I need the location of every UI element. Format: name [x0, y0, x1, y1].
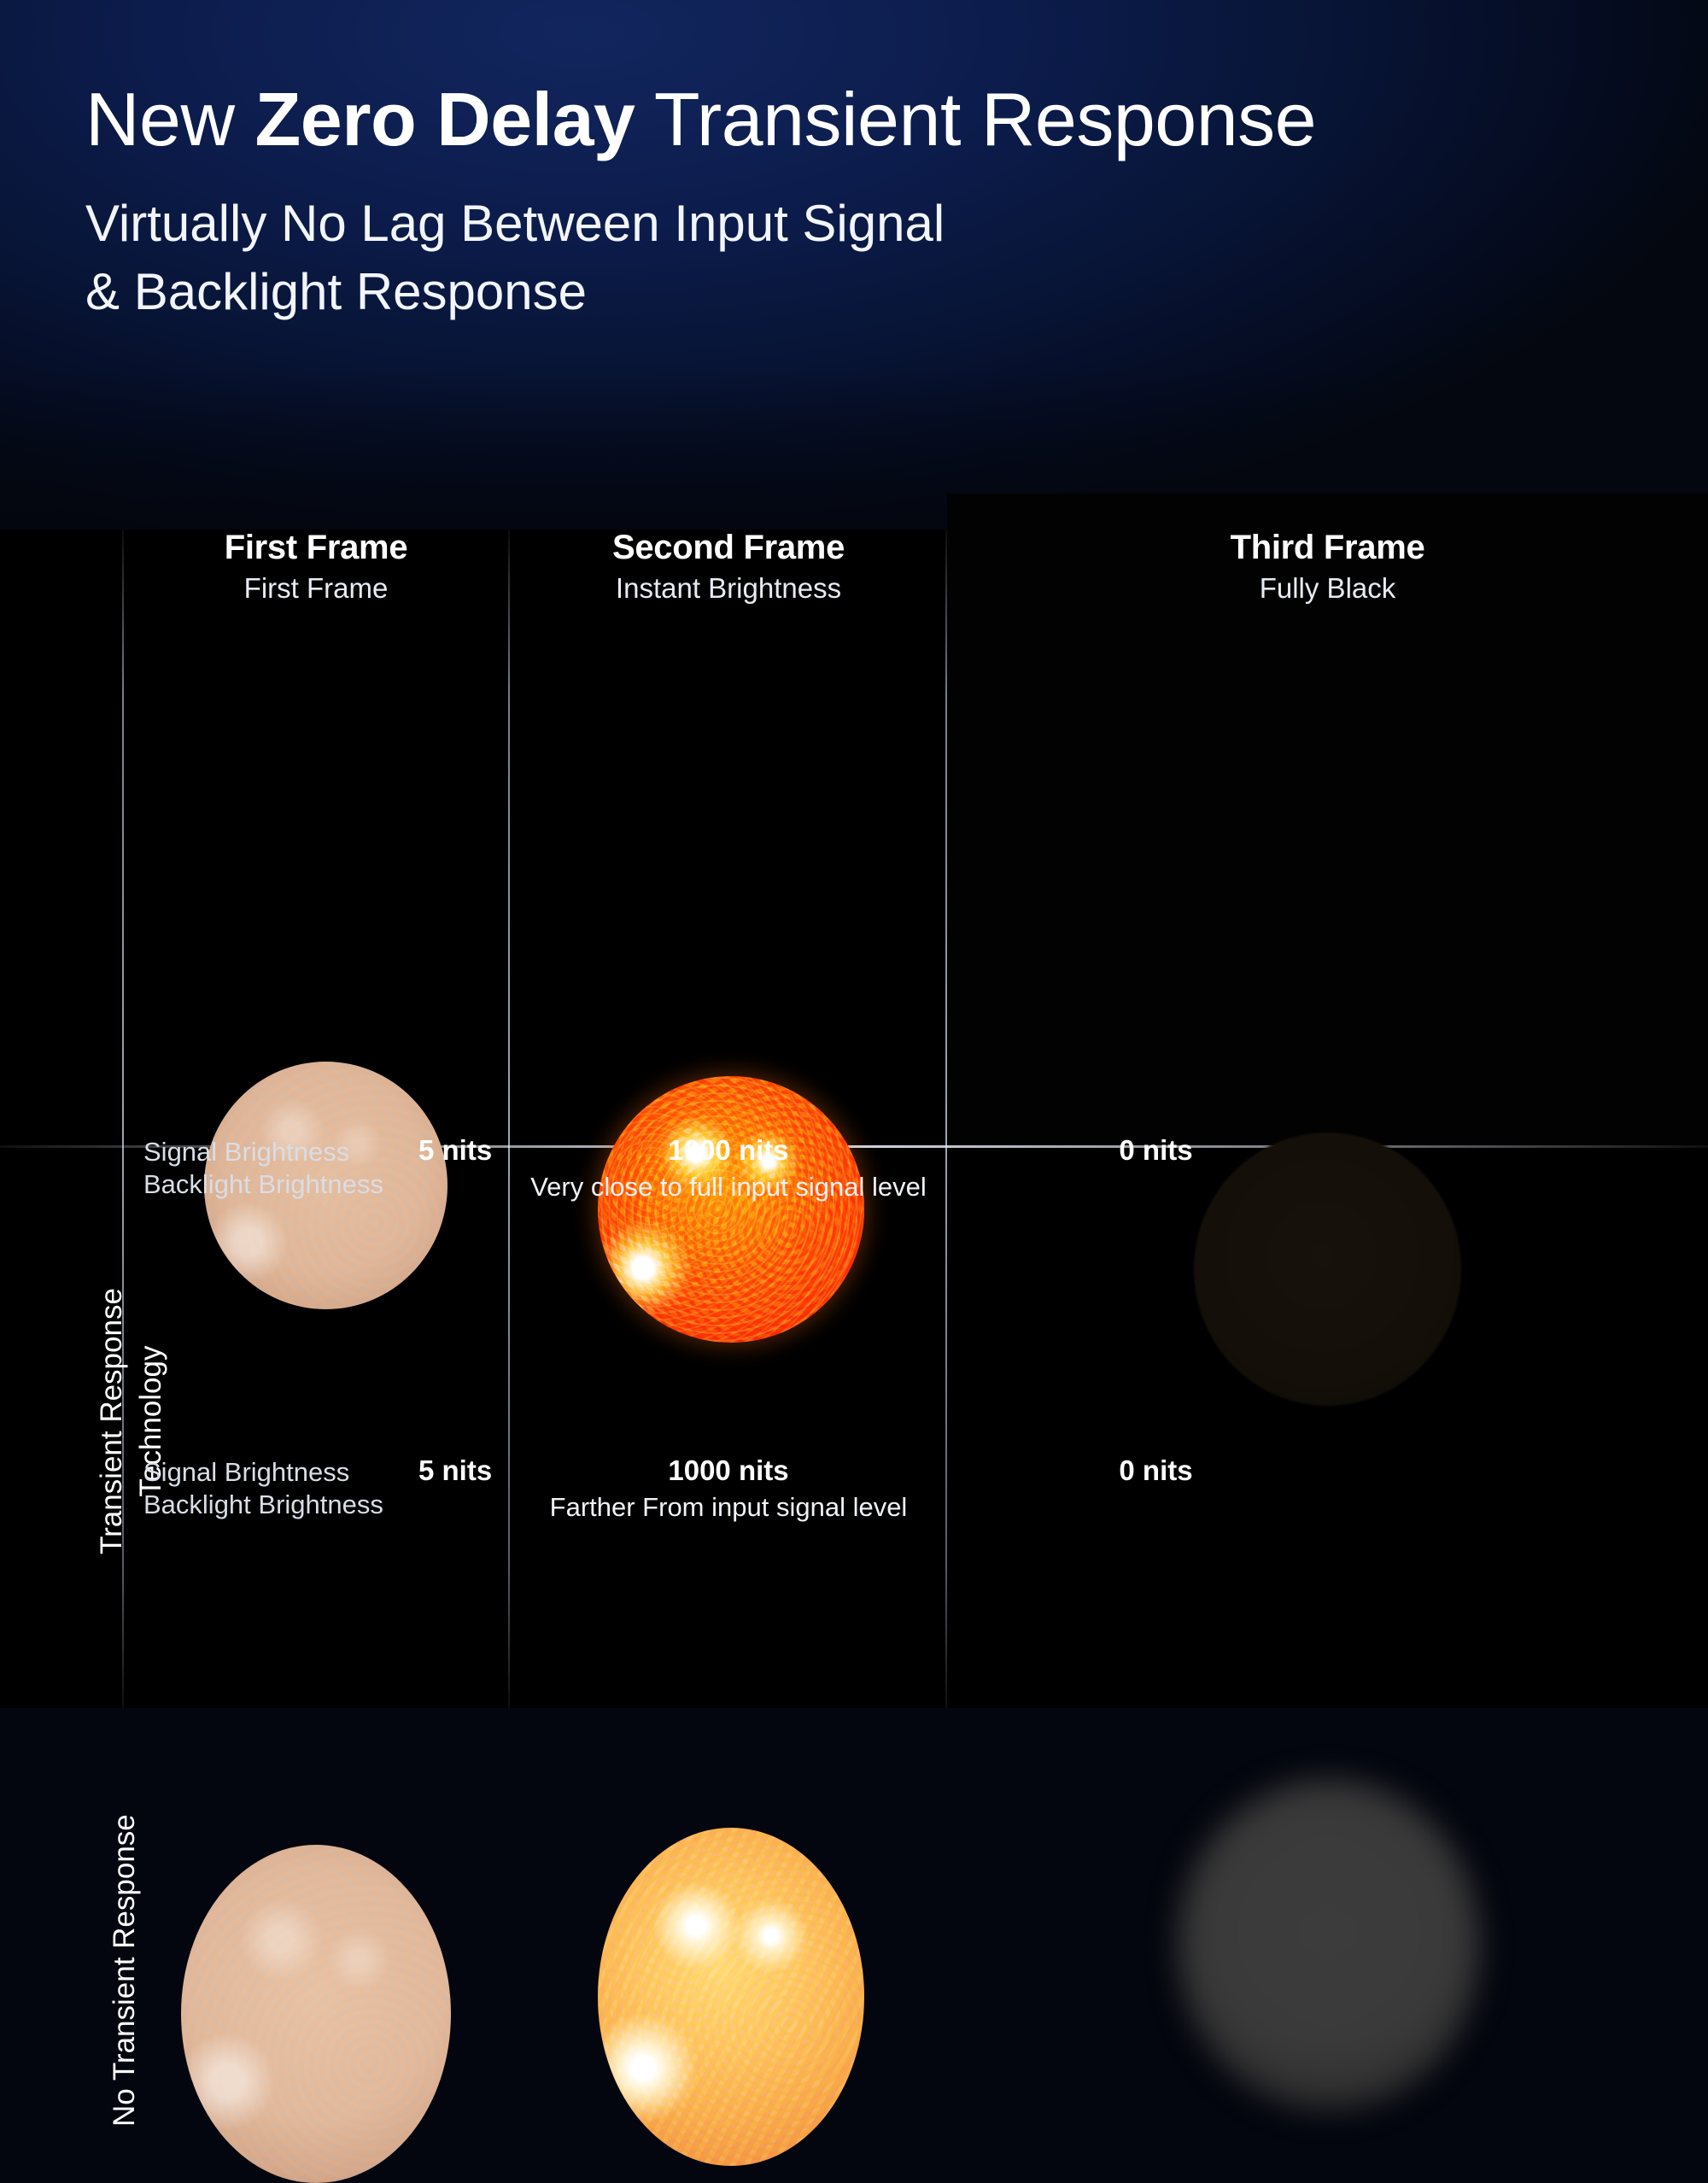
- metric-value-row1-second-frame: 1000 nits: [510, 1134, 947, 1167]
- metric-value-row2-third-frame: 0 nits: [947, 1454, 1365, 1487]
- metric-value-row2-first-frame: 5 nits: [418, 1454, 492, 1487]
- metric-label-signal-brightness-row1: Signal Brightness: [143, 1136, 349, 1168]
- header-banner: New Zero Delay Transient Response Virtua…: [0, 0, 1708, 547]
- column-header-subtitle: Fully Black: [947, 571, 1708, 606]
- metric-value-row2-second-frame: 1000 nits: [510, 1454, 947, 1487]
- page-title-emphasis: Zero Delay: [255, 77, 635, 161]
- page-title-post: Transient Response: [635, 77, 1316, 161]
- metric-note-row1-second-frame: Very close to full input signal level: [510, 1172, 947, 1203]
- grid-divider-vertical-2: [508, 530, 510, 1708]
- metric-label-backlight-brightness-row2: Backlight Brightness: [143, 1489, 383, 1521]
- metric-value-row1-first-frame: 5 nits: [418, 1134, 492, 1167]
- sun-texture-overlay: [598, 1828, 864, 2166]
- column-header-subtitle: First Frame: [122, 571, 510, 606]
- grid-divider-vertical-3: [945, 530, 947, 1708]
- sun-granule-overlay: [598, 1076, 864, 1343]
- page-subtitle-line-1: Virtually No Lag Between Input Signal: [85, 198, 945, 249]
- bloom-glow-row2-third-frame: [1177, 1778, 1481, 2111]
- sun-image-row1-second-frame: [598, 1076, 864, 1343]
- metric-value-row1-third-frame: 0 nits: [947, 1134, 1365, 1167]
- comparison-grid: First Frame First Frame Second Frame Ins…: [0, 530, 1708, 1708]
- page-subtitle-line-2: & Backlight Response: [85, 266, 587, 318]
- sun-image-row1-third-frame: [1194, 1132, 1461, 1406]
- row-label-no-transient-response: No Transient Response: [108, 1814, 142, 2127]
- column-header-title: Third Frame: [947, 530, 1708, 565]
- sun-texture-overlay: [181, 1845, 451, 2183]
- page-title-pre: New: [85, 77, 255, 161]
- row-label-line-1: Transient Response: [92, 1288, 132, 1554]
- row-label-line-1: No Transient Response: [108, 1814, 142, 2127]
- metric-label-signal-brightness-row2: Signal Brightness: [143, 1456, 349, 1489]
- column-header-second-frame: Second Frame Instant Brightness: [510, 530, 947, 623]
- metric-label-backlight-brightness-row1: Backlight Brightness: [143, 1168, 383, 1201]
- sun-image-row2-first-frame: [181, 1845, 451, 2183]
- metric-note-row2-second-frame: Farther From input signal level: [510, 1492, 947, 1523]
- column-header-title: Second Frame: [510, 530, 947, 565]
- column-header-title: First Frame: [122, 530, 510, 565]
- column-header-subtitle: Instant Brightness: [510, 571, 947, 606]
- column-header-third-frame: Third Frame Fully Black: [947, 530, 1708, 623]
- column-header-first-frame: First Frame First Frame: [122, 530, 510, 623]
- page-title: New Zero Delay Transient Response: [85, 82, 1316, 157]
- sun-image-row2-second-frame: [598, 1828, 864, 2166]
